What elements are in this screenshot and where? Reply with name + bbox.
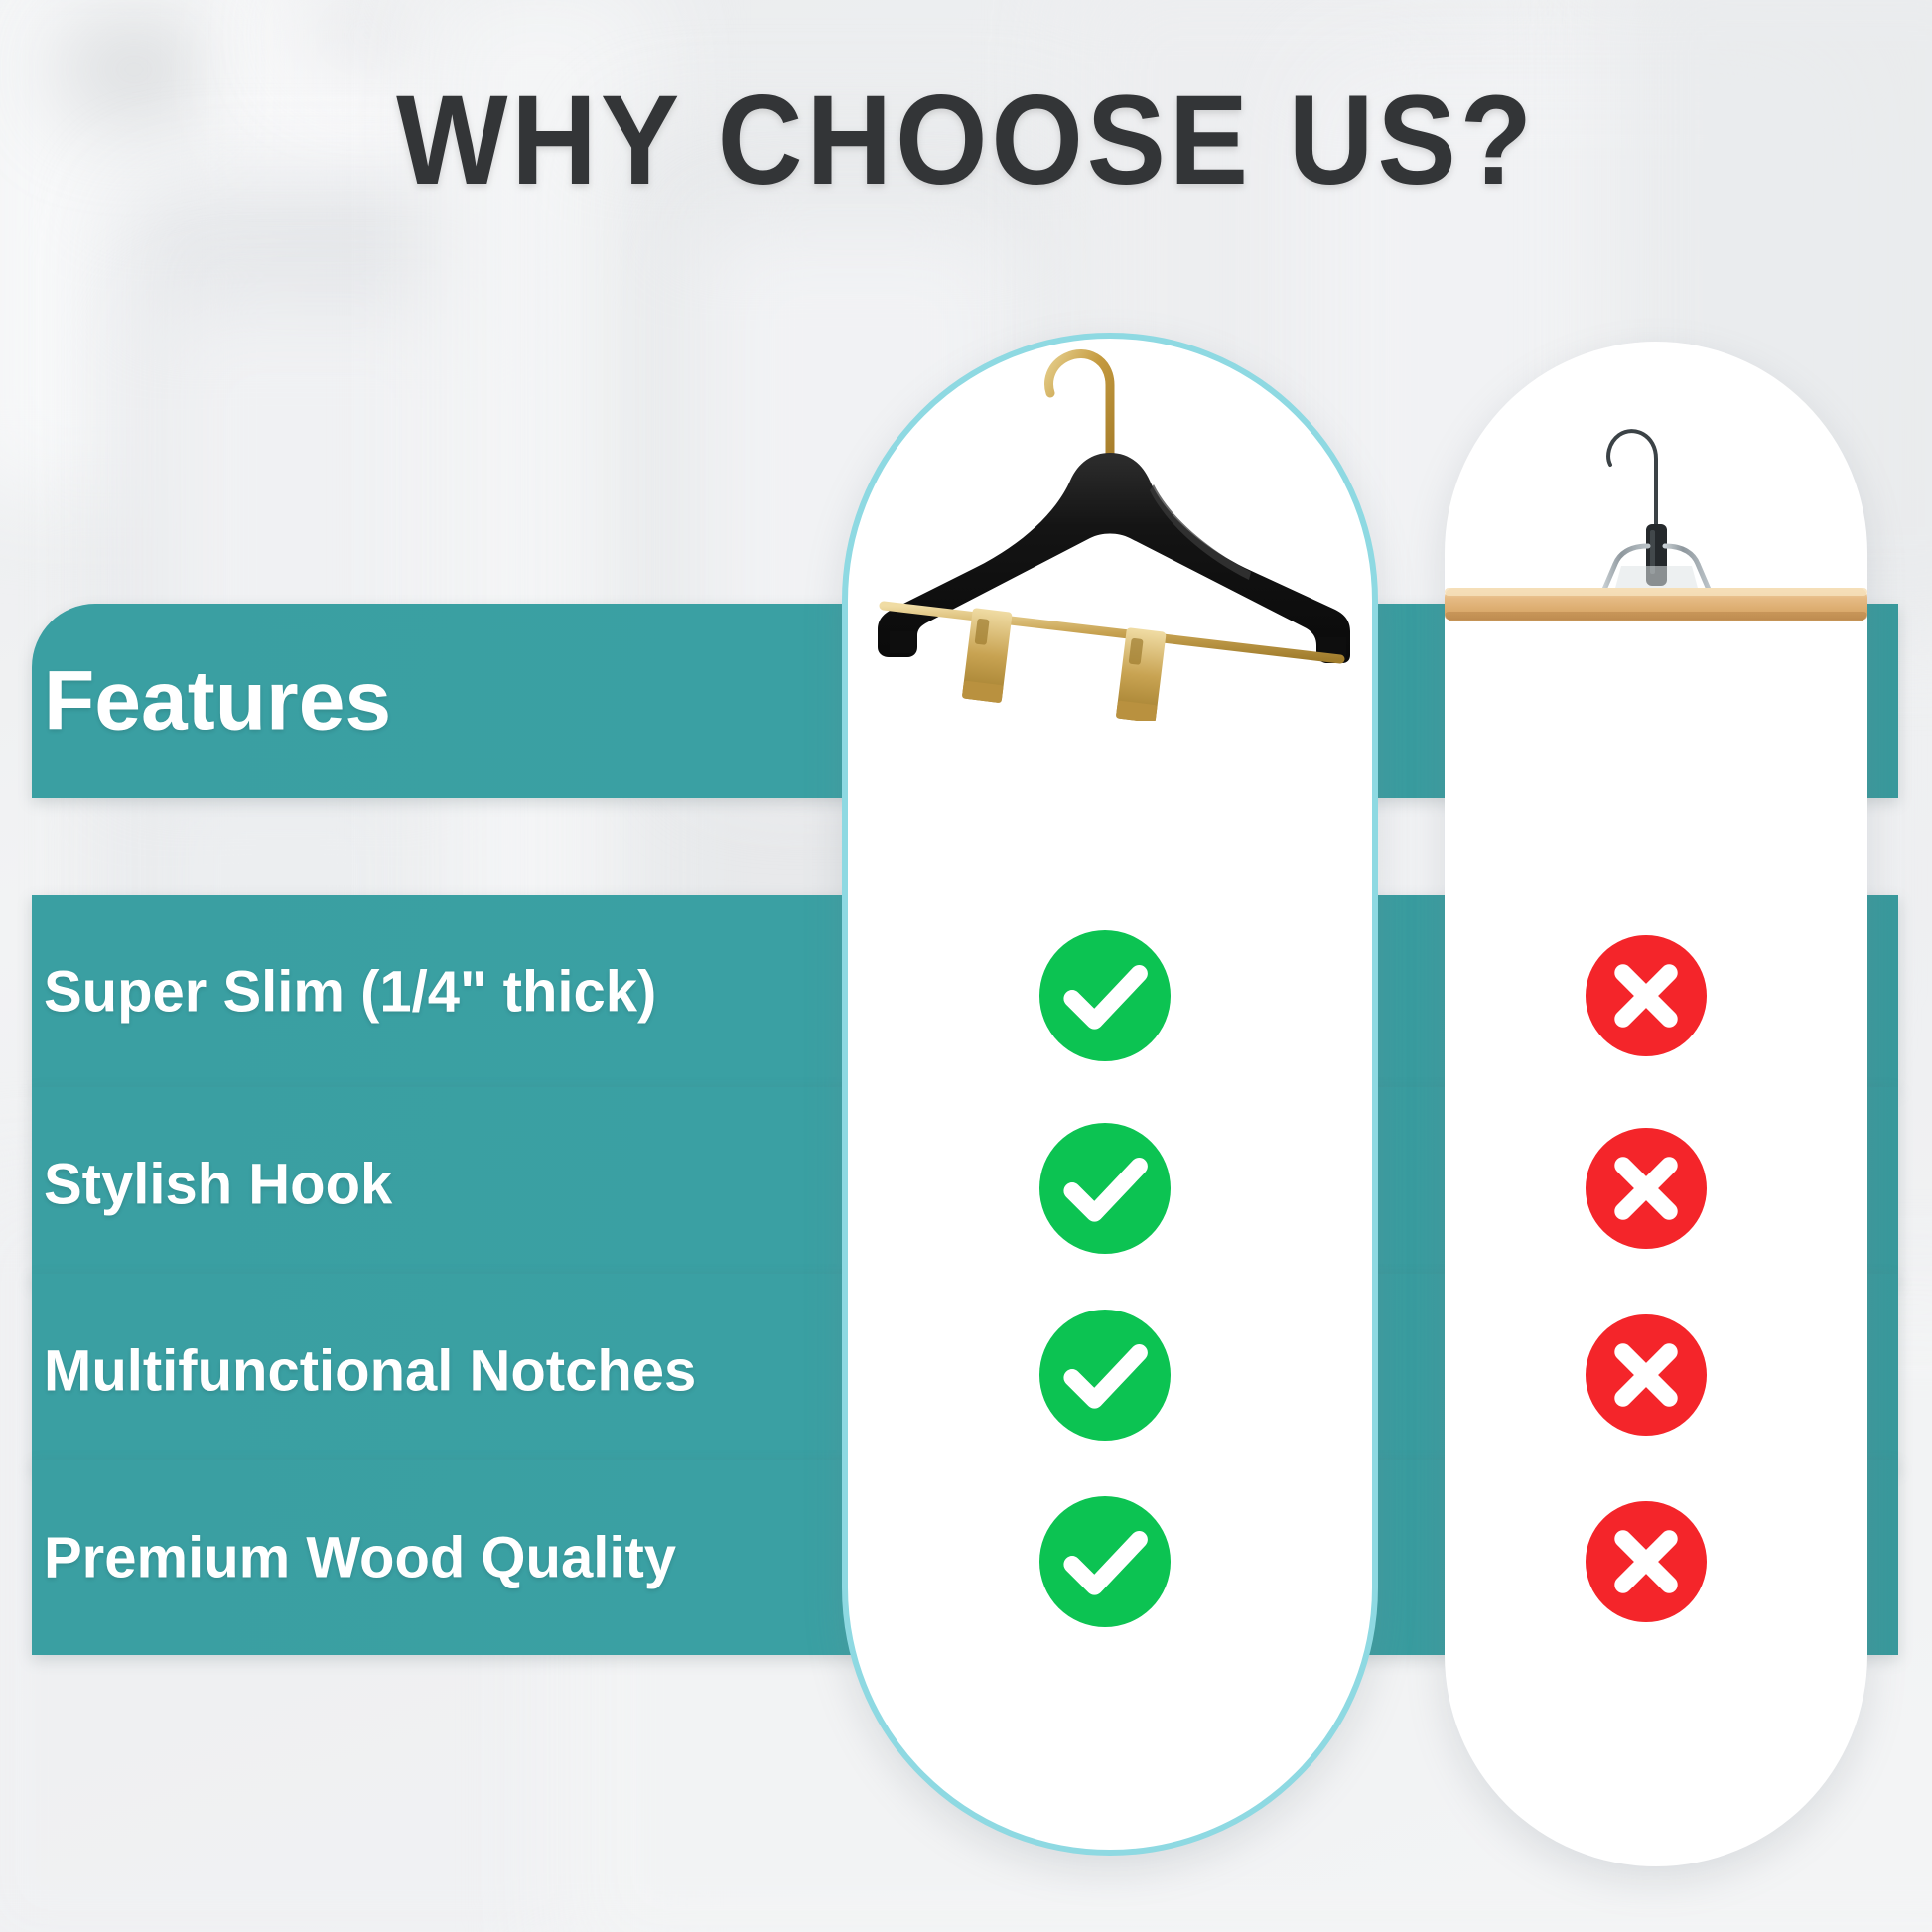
- check-icon-row-1: [1039, 1123, 1171, 1254]
- feature-label-0: Super Slim (1/4" thick): [44, 959, 656, 1026]
- feature-label-1: Stylish Hook: [44, 1152, 392, 1218]
- hanger-clip-bar-icon: [874, 592, 1350, 721]
- infographic-canvas: WHY CHOOSE US? Features Super Slim (1/4"…: [0, 0, 1932, 1932]
- hanger-wood-clamp-icon: [1445, 407, 1867, 625]
- page-title: WHY CHOOSE US?: [68, 77, 1864, 205]
- cross-icon-row-2: [1586, 1314, 1707, 1436]
- feature-label-2: Multifunctional Notches: [44, 1338, 696, 1405]
- cross-icon-row-0: [1586, 935, 1707, 1056]
- check-icon-row-0: [1039, 930, 1171, 1061]
- features-header-label: Features: [44, 653, 391, 750]
- cross-icon-row-3: [1586, 1501, 1707, 1622]
- feature-label-3: Premium Wood Quality: [44, 1525, 676, 1591]
- check-icon-row-2: [1039, 1310, 1171, 1441]
- check-icon-row-3: [1039, 1496, 1171, 1627]
- cross-icon-row-1: [1586, 1128, 1707, 1249]
